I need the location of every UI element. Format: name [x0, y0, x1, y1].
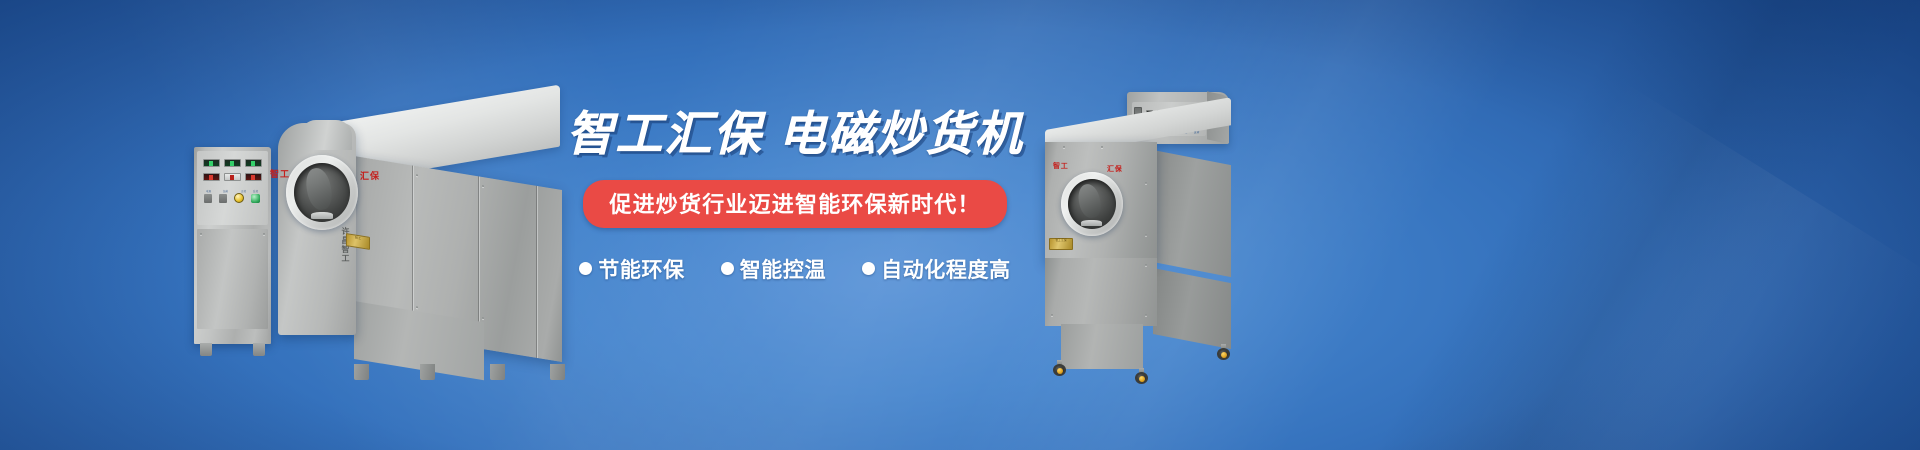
roaster-leg — [490, 364, 505, 380]
rivet-icon — [1145, 314, 1147, 316]
setpoint-display-2 — [224, 173, 241, 181]
title-brand: 智工汇保 — [567, 107, 763, 160]
brand-logo-right: 汇保 — [360, 169, 380, 182]
rivet-icon — [482, 185, 484, 187]
drum-opening — [1068, 179, 1116, 229]
heat-switch[interactable] — [219, 194, 227, 203]
roaster-main-body: 智工 汇保 许昌智工 智工 — [268, 107, 563, 370]
promotional-banner: 电源 加热 正转 反转 — [0, 0, 1920, 450]
product-image-small-roaster: 启动 正转 电源 停止 反转 智工 — [1035, 92, 1255, 360]
feature-label: 智能控温 — [740, 254, 826, 284]
setpoint-display-3 — [245, 173, 262, 181]
feature-item: 自动化程度高 — [862, 254, 1011, 284]
speed-display — [245, 159, 262, 167]
control-cabinet: 电源 加热 正转 反转 — [194, 147, 271, 344]
panel-label: 正转 — [241, 189, 246, 193]
panel-label: 电源 — [206, 189, 211, 193]
drum-blade — [304, 166, 334, 212]
cabinet-button-row[interactable] — [204, 193, 260, 203]
roaster-leg — [550, 364, 565, 380]
caster-wheel — [1217, 344, 1230, 360]
rivet-icon — [1145, 264, 1147, 266]
caster-wheel — [1135, 368, 1148, 384]
roaster-leg — [354, 364, 369, 380]
rivet-icon — [1145, 234, 1147, 236]
rivet-icon — [263, 233, 265, 235]
roaster-ventilation-grille — [1061, 324, 1143, 369]
drum-door-frame — [286, 155, 358, 230]
emergency-stop-knob[interactable] — [234, 193, 244, 203]
rivet-icon — [416, 306, 418, 308]
rivet-icon — [1145, 182, 1147, 184]
panel-label: 加热 — [223, 189, 228, 193]
temperature-display — [203, 159, 220, 167]
caster-wheel — [1053, 360, 1066, 376]
setpoint-display-1 — [203, 173, 220, 181]
rivet-icon — [1063, 146, 1065, 148]
feature-label: 节能环保 — [598, 254, 684, 284]
product-image-large-roaster: 电源 加热 正转 反转 — [180, 95, 570, 385]
panel-label: 反转 — [253, 189, 258, 193]
filled-circle-bullet-icon — [721, 262, 734, 275]
cabinet-foot — [253, 343, 265, 356]
start-indicator-button[interactable] — [251, 194, 260, 203]
page-title: 智工汇保电磁炒货机 — [560, 108, 1030, 160]
roaster-side-panel-upper — [1153, 150, 1231, 277]
rivet-icon — [200, 233, 202, 235]
drum-opening — [294, 163, 350, 222]
drum-lip — [311, 212, 333, 219]
rivet-icon — [1051, 314, 1053, 316]
subtitle-badge: 促进炒货行业迈进智能环保新时代！ — [583, 180, 1006, 228]
display-row-bottom — [203, 173, 262, 181]
drum-door-frame — [1061, 172, 1123, 236]
roaster-side-panel-lower — [1153, 268, 1231, 349]
brand-logo-left: 智工 — [1053, 161, 1069, 171]
brand-logo-right: 汇保 — [1107, 164, 1123, 174]
rivet-icon — [482, 317, 484, 319]
drum-lip — [1081, 220, 1101, 227]
cabinet-panel-face: 电源 加热 正转 反转 — [197, 151, 268, 225]
panel-seam — [536, 186, 537, 358]
drum-blade — [1076, 182, 1103, 219]
rivet-icon — [416, 174, 418, 176]
title-product: 电磁炒货机 — [779, 107, 1024, 160]
feature-item: 节能环保 — [579, 254, 684, 284]
nameplate: 智工 汇保 — [1049, 238, 1073, 250]
hood-peak — [300, 120, 352, 150]
timer-display — [224, 159, 241, 167]
filled-circle-bullet-icon — [579, 262, 592, 275]
power-switch[interactable] — [204, 194, 212, 203]
banner-text-block: 智工汇保电磁炒货机 促进炒货行业迈进智能环保新时代！ 节能环保 智能控温 自动化… — [560, 108, 1030, 284]
cabinet-foot — [200, 343, 212, 356]
brand-logo-left: 智工 — [270, 167, 290, 180]
cabinet-lower-panel — [197, 229, 268, 329]
roaster-leg — [420, 364, 435, 380]
rivet-icon — [1101, 146, 1103, 148]
roaster-front-lower — [1045, 258, 1157, 326]
feature-list: 节能环保 智能控温 自动化程度高 — [560, 254, 1030, 284]
feature-item: 智能控温 — [721, 254, 826, 284]
display-row-top — [203, 159, 262, 167]
filled-circle-bullet-icon — [862, 262, 875, 275]
feature-label: 自动化程度高 — [881, 254, 1011, 284]
